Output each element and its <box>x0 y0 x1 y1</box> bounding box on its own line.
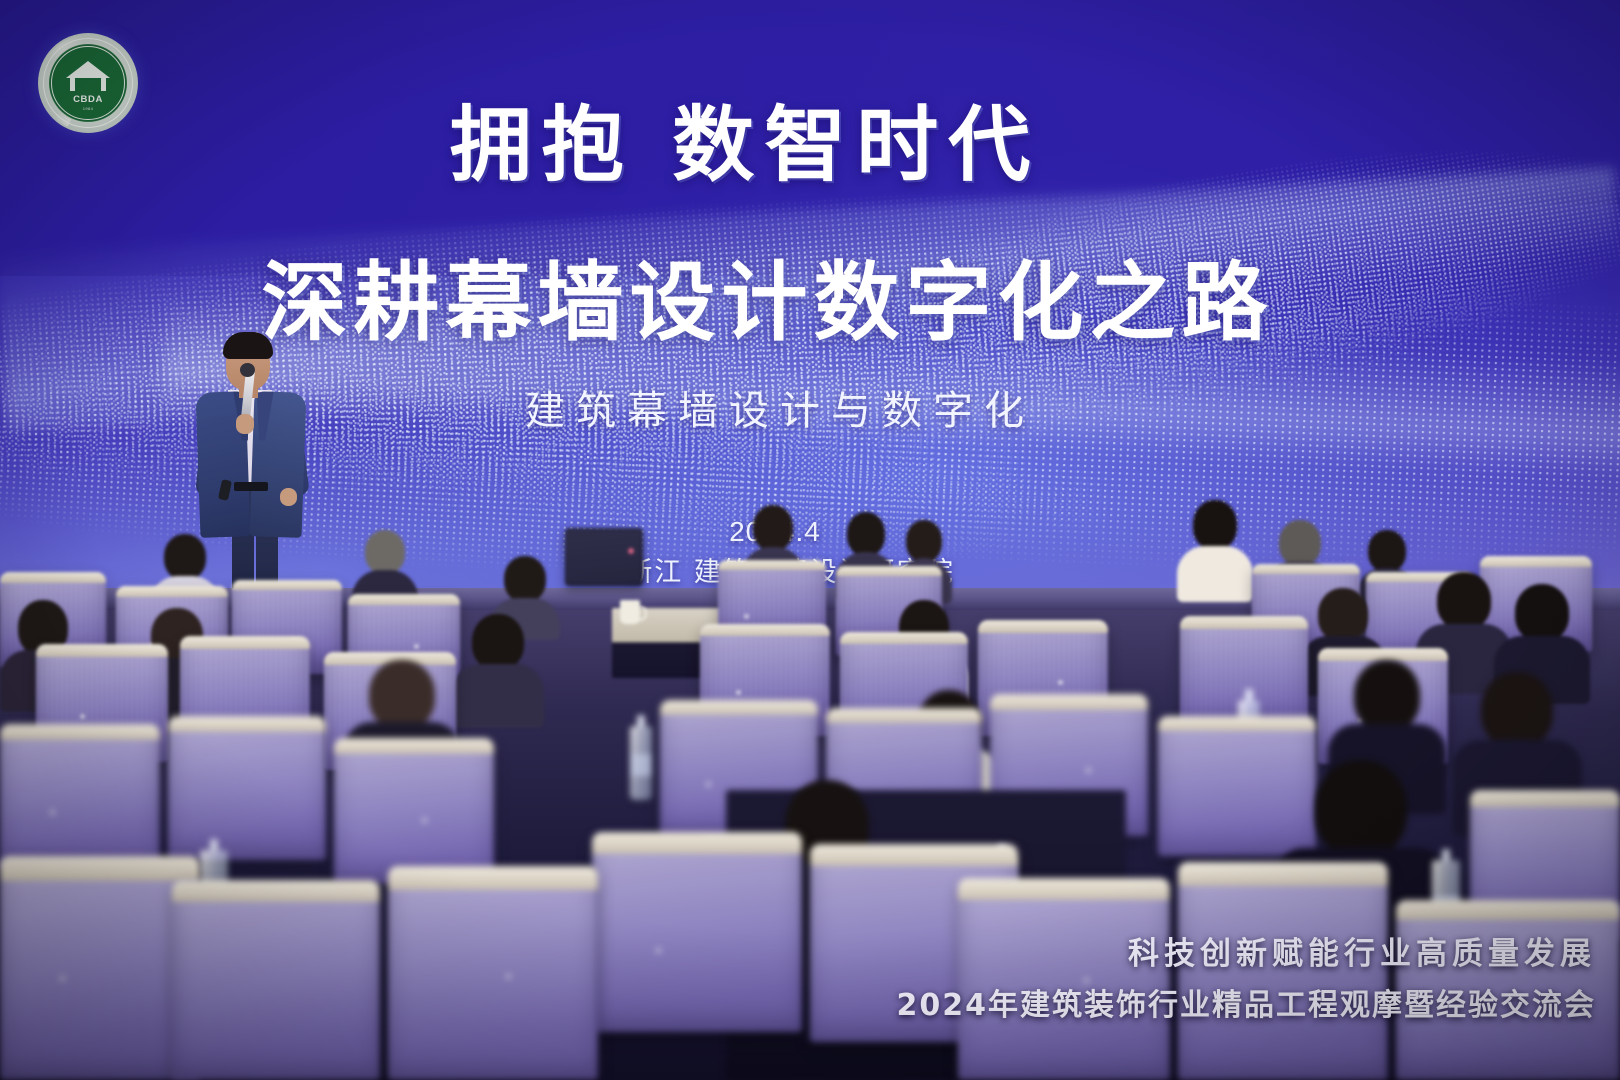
microphone-head <box>240 363 255 377</box>
person-body <box>1177 546 1253 602</box>
person-head <box>365 530 405 574</box>
audience-chair <box>334 738 494 884</box>
person-head <box>1193 500 1237 550</box>
logo-year: 1984 <box>83 106 94 111</box>
speaker-belt <box>234 482 268 491</box>
audience-person <box>452 614 544 726</box>
audience-chair <box>592 832 802 1032</box>
audience-chair <box>172 880 380 1080</box>
speaker-hair <box>223 332 273 359</box>
audience-chair <box>388 866 598 1080</box>
person-head <box>1481 672 1553 748</box>
speaker-lapel-right <box>257 392 276 441</box>
person-body <box>452 664 544 728</box>
conference-photo: CBDA 1984 拥抱 数智时代 深耕幕墙设计数字化之路 建筑幕墙设计与数字化… <box>0 0 1620 1080</box>
audience-chair <box>0 724 160 870</box>
audience-chair <box>168 716 326 860</box>
power-led-icon <box>628 548 634 554</box>
person-head <box>164 534 206 580</box>
paper-cup <box>620 600 640 624</box>
bottle-label <box>630 754 652 776</box>
person-head <box>472 614 524 670</box>
person-head <box>1354 660 1420 732</box>
cbda-logo-icon: CBDA 1984 <box>38 33 138 133</box>
audience-person <box>1177 500 1253 600</box>
person-head <box>504 556 546 602</box>
logo-house-icon <box>67 62 109 92</box>
person-head <box>906 520 942 562</box>
screen-gradient-topleft <box>0 0 940 276</box>
speaker-right-hand <box>280 488 297 506</box>
av-speaker-cabinet <box>565 528 643 586</box>
logo-abbreviation: CBDA <box>73 94 103 105</box>
audience-chair <box>0 856 200 1080</box>
audience-chair <box>958 878 1170 1080</box>
audience-chair <box>1178 862 1388 1080</box>
person-head <box>1315 760 1407 858</box>
speaker-grill <box>569 532 639 582</box>
speaker-left-hand <box>236 414 254 434</box>
person-head <box>1368 530 1406 572</box>
person-head <box>369 660 435 730</box>
person-head <box>1437 572 1491 630</box>
water-bottle <box>630 726 652 800</box>
screen-gradient-topright <box>875 0 1620 204</box>
person-head <box>1318 588 1368 642</box>
logo-disc: CBDA 1984 <box>51 46 125 120</box>
audience-chair <box>1396 900 1620 1080</box>
wave-crest-highlight <box>159 297 1620 514</box>
person-head <box>1279 520 1321 566</box>
person-head <box>753 505 793 551</box>
person-head <box>1515 584 1569 642</box>
person-head <box>847 512 885 556</box>
